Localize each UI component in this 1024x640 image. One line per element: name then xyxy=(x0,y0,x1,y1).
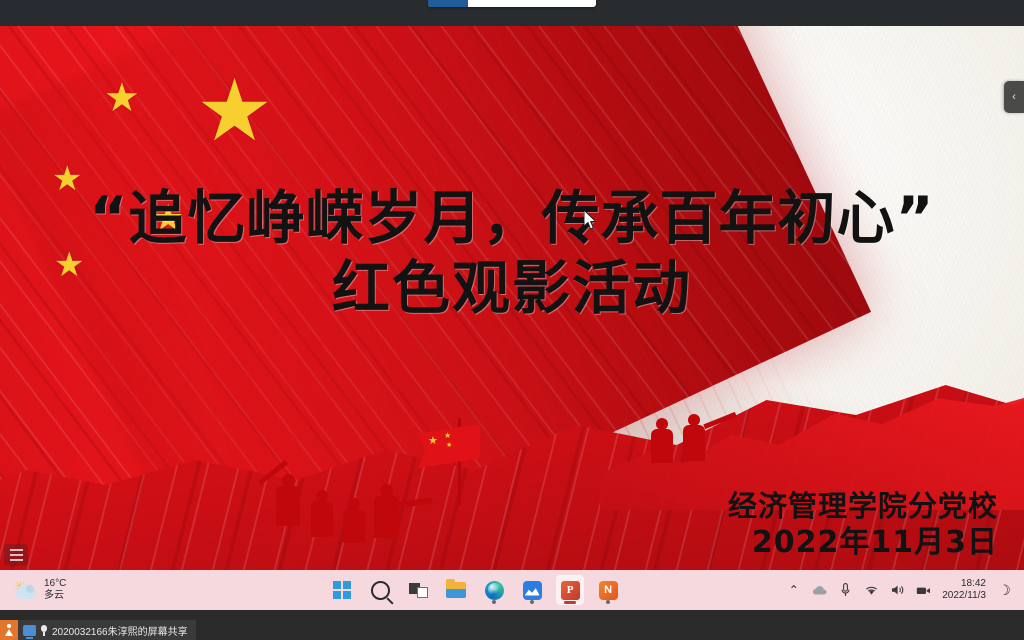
wifi-icon[interactable] xyxy=(864,583,879,598)
microphone-icon[interactable] xyxy=(838,583,853,598)
tencent-meeting-button[interactable] xyxy=(518,575,546,605)
search-button[interactable] xyxy=(366,575,394,605)
side-panel-collapse-tab[interactable]: ‹ xyxy=(1004,81,1024,113)
signature-date: 2022年11月3日 xyxy=(728,524,998,562)
task-view-icon xyxy=(409,583,428,598)
weather-temperature: 16°C xyxy=(44,578,66,591)
active-indicator xyxy=(564,601,576,604)
screen-share-icon[interactable] xyxy=(23,625,36,636)
taskbar-clock[interactable]: 18:42 2022/11/3 xyxy=(942,578,986,603)
screen-share-indicator[interactable]: 2020032166朱淳熙的屏幕共享 xyxy=(0,620,196,640)
start-button[interactable] xyxy=(328,575,356,605)
menu-line xyxy=(10,554,23,556)
weather-condition: 多云 xyxy=(44,590,66,603)
powerpoint-button[interactable]: P xyxy=(556,575,584,605)
search-icon xyxy=(371,581,390,600)
meeting-icon xyxy=(523,581,542,600)
note-app-button[interactable]: N xyxy=(594,575,622,605)
chevron-up-icon[interactable]: ⌃ xyxy=(786,583,801,598)
weather-text: 16°C 多云 xyxy=(44,578,66,603)
taskbar-app-row: P N xyxy=(164,575,786,605)
running-indicator xyxy=(606,600,610,604)
flag-star-1: ★ xyxy=(104,78,140,118)
flag-star-large: ★ xyxy=(196,68,273,154)
microphone-icon[interactable] xyxy=(41,625,47,636)
task-view-button[interactable] xyxy=(404,575,432,605)
mouse-cursor xyxy=(584,210,598,230)
signature-organization: 经济管理学院分党校 xyxy=(728,488,998,524)
camera-icon[interactable] xyxy=(916,583,931,598)
running-indicator xyxy=(530,600,534,604)
speaker-icon[interactable] xyxy=(890,583,905,598)
windows-taskbar[interactable]: ☀ 16°C 多云 xyxy=(0,570,1024,610)
toolbar-progress-segment xyxy=(428,0,468,7)
clock-date: 2022/11/3 xyxy=(942,590,986,603)
taskbar-weather-widget[interactable]: ☀ 16°C 多云 xyxy=(14,578,164,603)
slide-signature-block: 经济管理学院分党校 2022年11月3日 xyxy=(728,488,998,562)
windows-logo-icon xyxy=(333,581,351,599)
microsoft-edge-button[interactable] xyxy=(480,575,508,605)
edge-icon xyxy=(485,581,504,600)
soldier-silhouettes-right xyxy=(648,414,798,484)
slide-title-line1: “追忆峥嵘岁月，传承百年初心” xyxy=(0,188,1024,249)
presentation-floating-toolbar[interactable] xyxy=(428,0,596,7)
menu-line xyxy=(10,549,23,551)
onedrive-cloud-icon[interactable] xyxy=(812,583,827,598)
menu-line xyxy=(10,559,23,561)
clock-time: 18:42 xyxy=(942,578,986,591)
slide-title-line2: 红色观影活动 xyxy=(0,249,1024,327)
slideshow-menu-button[interactable] xyxy=(4,544,28,566)
taskbar-system-tray[interactable]: ⌃ 18:42 2022/11/3 ☽ xyxy=(786,578,1012,603)
file-explorer-button[interactable] xyxy=(442,575,470,605)
share-bar-label: 2020032166朱淳熙的屏幕共享 xyxy=(52,623,188,638)
sun-behind-cloud-icon: ☀ xyxy=(14,580,38,600)
powerpoint-icon: P xyxy=(561,581,580,600)
folder-icon xyxy=(446,582,466,598)
slide-title-block: “追忆峥嵘岁月，传承百年初心” 红色观影活动 xyxy=(0,188,1024,327)
notification-moon-icon[interactable]: ☽ xyxy=(997,583,1012,598)
running-indicator xyxy=(492,600,496,604)
person-icon xyxy=(0,620,18,640)
soldier-silhouettes-left xyxy=(262,464,442,554)
note-app-icon: N xyxy=(599,581,618,600)
presentation-slide[interactable]: ★ ★ ★ ★ ★ ★ ★ ★ “追忆峥嵘岁月，传承百年初心” 红色观影活动 xyxy=(0,26,1024,570)
